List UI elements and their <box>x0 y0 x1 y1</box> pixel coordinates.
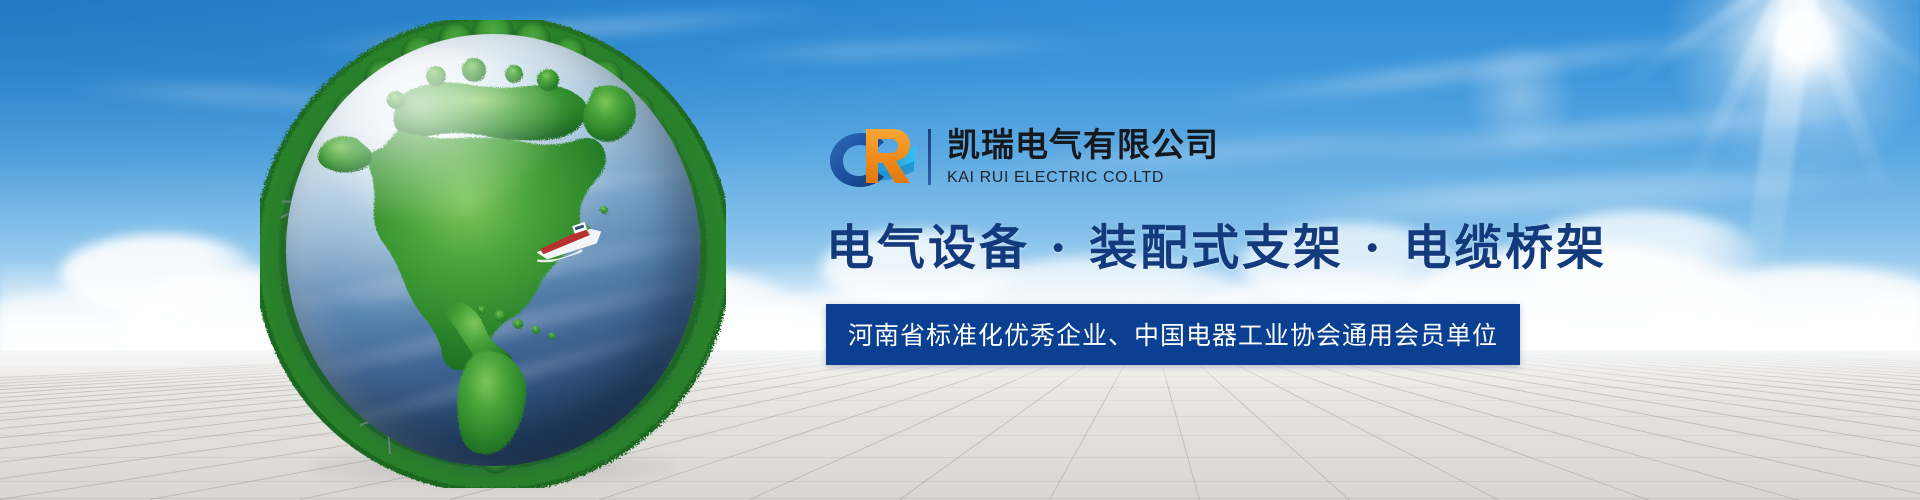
pavement-joint <box>0 481 1920 482</box>
logo-divider <box>928 129 931 185</box>
company-name-en: KAI RUI ELECTRIC CO.LTD <box>947 169 1219 187</box>
company-name-cn: 凯瑞电气有限公司 <box>947 127 1219 164</box>
status-badge: 河南省标准化优秀企业、中国电器工业协会通用会员单位 <box>826 304 1520 365</box>
green-earth-globe-icon <box>268 28 718 480</box>
brand-lockup: 凯瑞电气有限公司 KAI RUI ELECTRIC CO.LTD <box>826 118 1586 196</box>
pavement-joint <box>0 498 1920 499</box>
earth-sphere <box>286 34 700 466</box>
banner-tagline: 电气设备 · 装配式支架 · 电缆桥架 <box>826 218 1586 278</box>
cr-monogram-logo-icon <box>826 121 918 193</box>
hero-banner: 凯瑞电气有限公司 KAI RUI ELECTRIC CO.LTD 电气设备 · … <box>0 0 1920 500</box>
globe-specular-highlight <box>319 51 567 224</box>
sun-disc <box>1660 0 1920 170</box>
brand-text: 凯瑞电气有限公司 KAI RUI ELECTRIC CO.LTD <box>947 127 1219 187</box>
banner-content: 凯瑞电气有限公司 KAI RUI ELECTRIC CO.LTD 电气设备 · … <box>826 118 1586 365</box>
